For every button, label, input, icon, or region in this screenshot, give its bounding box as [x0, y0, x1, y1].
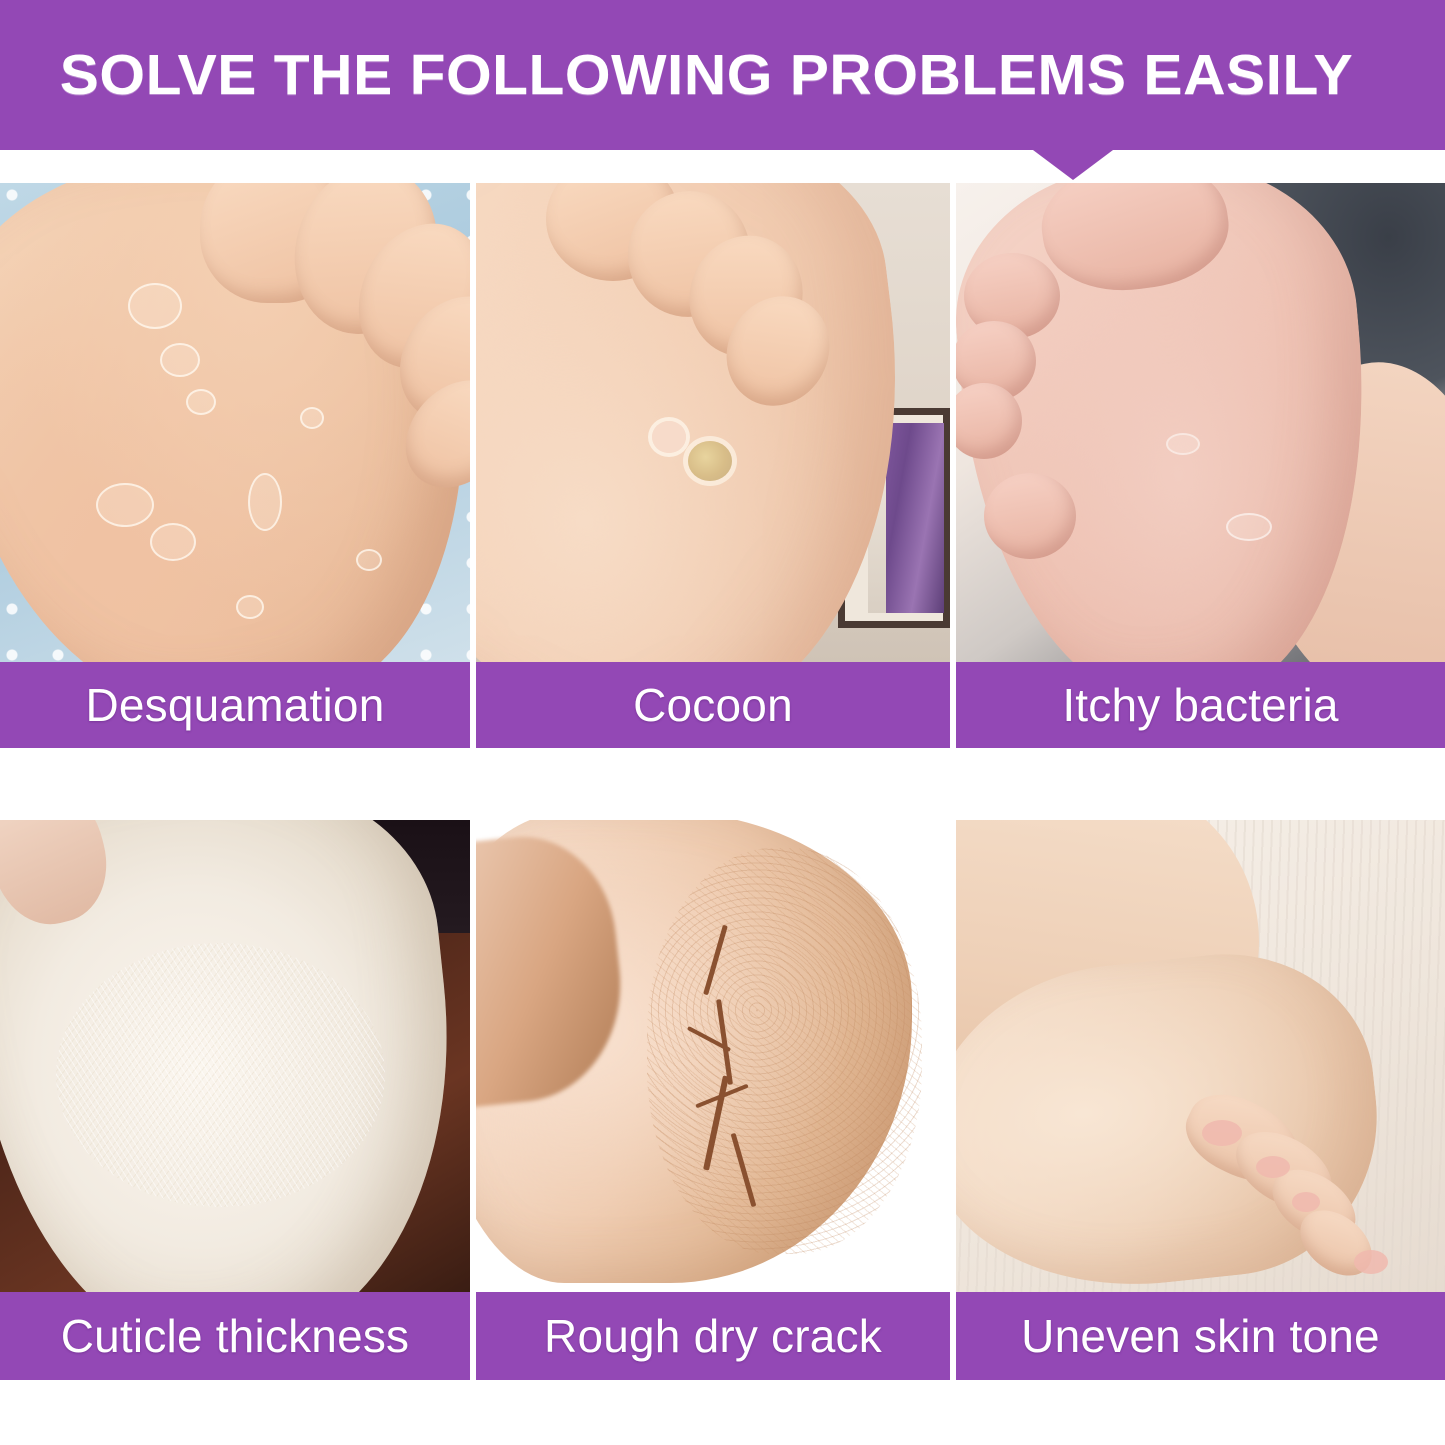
problem-photo-cuticle-thickness	[0, 820, 470, 1292]
problem-caption-desquamation: Desquamation	[0, 662, 470, 748]
problem-photo-itchy-bacteria	[956, 183, 1445, 662]
problem-cell-itchy-bacteria[interactable]: Itchy bacteria	[956, 183, 1445, 748]
problem-cell-uneven-skin-tone[interactable]: Uneven skin tone	[956, 820, 1445, 1380]
problem-photo-rough-dry-crack	[476, 820, 950, 1292]
callus-shape	[688, 441, 732, 481]
scaly-skin-texture	[647, 848, 922, 1254]
header-notch-triangle-icon	[1033, 150, 1113, 180]
skin-flake-shape	[356, 549, 382, 571]
problem-caption-rough-dry-crack: Rough dry crack	[476, 1292, 950, 1380]
skin-flake-shape	[128, 283, 182, 329]
header-banner: SOLVE THE FOLLOWING PROBLEMS EASILY	[0, 0, 1445, 150]
promo-infographic: SOLVE THE FOLLOWING PROBLEMS EASILY	[0, 0, 1445, 1445]
skin-flake-shape	[248, 473, 282, 531]
problem-cell-desquamation[interactable]: Desquamation	[0, 183, 470, 748]
toenail-shape	[1354, 1250, 1388, 1274]
skin-flake-shape	[160, 343, 200, 377]
problem-caption-uneven-skin-tone: Uneven skin tone	[956, 1292, 1445, 1380]
toe-shape	[984, 473, 1076, 559]
page-title: SOLVE THE FOLLOWING PROBLEMS EASILY	[0, 47, 1353, 104]
problem-cell-cocoon[interactable]: Cocoon	[476, 183, 950, 748]
skin-flake-shape	[236, 595, 264, 619]
toenail-shape	[1256, 1156, 1290, 1178]
toenail-shape	[1292, 1192, 1320, 1212]
toenail-shape	[1202, 1120, 1242, 1146]
problem-caption-cuticle-thickness: Cuticle thickness	[0, 1292, 470, 1380]
problem-photo-cocoon	[476, 183, 950, 662]
skin-flake-shape	[150, 523, 196, 561]
skin-flake-shape	[96, 483, 154, 527]
skin-flake-shape	[186, 389, 216, 415]
problem-cell-cuticle-thickness[interactable]: Cuticle thickness	[0, 820, 470, 1380]
skin-flake-shape	[300, 407, 324, 429]
problem-caption-cocoon: Cocoon	[476, 662, 950, 748]
dry-skin-texture	[56, 943, 385, 1207]
problem-caption-itchy-bacteria: Itchy bacteria	[956, 662, 1445, 748]
callus-shape	[652, 421, 686, 453]
problem-photo-desquamation	[0, 183, 470, 662]
skin-flake-shape	[1166, 433, 1200, 455]
problem-cell-rough-dry-crack[interactable]: Rough dry crack	[476, 820, 950, 1380]
skin-flake-shape	[1226, 513, 1272, 541]
problem-photo-uneven-skin-tone	[956, 820, 1445, 1292]
